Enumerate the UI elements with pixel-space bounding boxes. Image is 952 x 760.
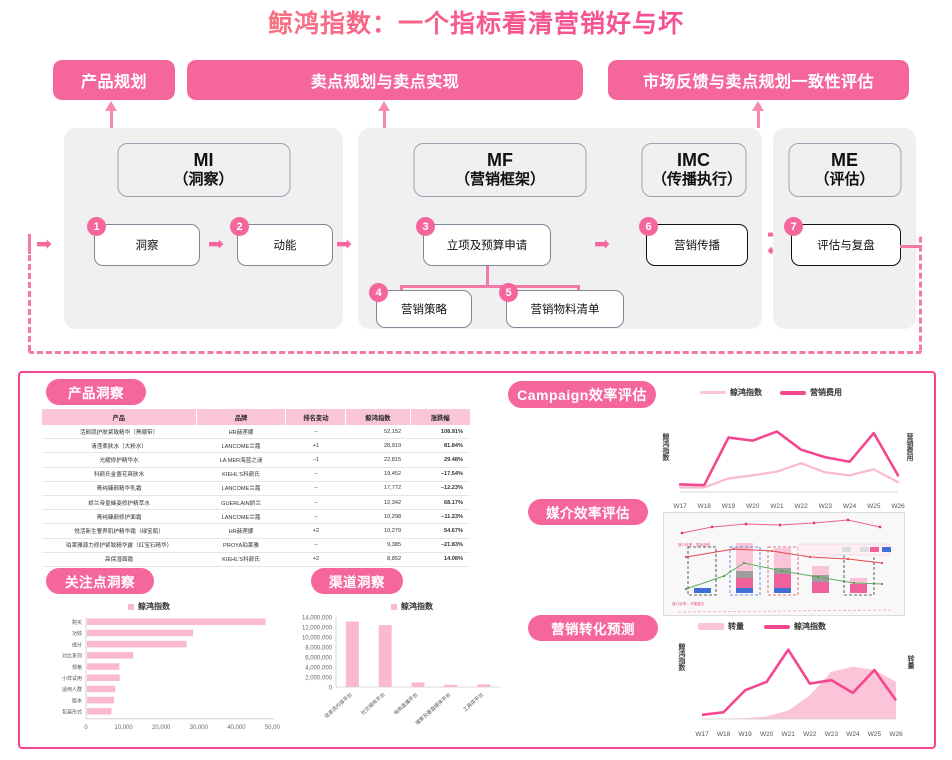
media-stacked-bar-segment — [812, 566, 829, 575]
cell-product: 珀莱雅源力修护紧致精华露（红宝石精华） — [42, 538, 196, 552]
forecast-y-right-title: 转量 — [905, 655, 915, 669]
focus-bar — [87, 663, 119, 670]
node-label: 洞察 — [136, 237, 159, 253]
campaign-x-tick: W24 — [839, 503, 861, 510]
cell-product: 高保湿面霜 — [42, 552, 196, 566]
cell-change: 68.17% — [410, 495, 470, 509]
legend-line-icon — [780, 391, 806, 395]
tree-connector-horizontal — [400, 285, 580, 288]
legend-label: 鲸鸿指数 — [138, 601, 170, 612]
banner-arrow-up-icon — [105, 101, 117, 111]
step-badge-4: 4 — [369, 283, 388, 302]
cell-rank-change: +2 — [286, 524, 346, 538]
stage-me-header: ME （评估） — [788, 143, 901, 197]
forecast-x-tick: W26 — [886, 731, 906, 738]
pill-product-insight[interactable]: 产品洞察 — [46, 379, 146, 405]
cell-brand: HR赫莲娜 — [196, 524, 286, 538]
legend-swatch-icon — [391, 604, 397, 610]
cell-index: 9,385 — [346, 538, 410, 552]
legend-item-jinghong-index: 鲸鸿指数 — [700, 387, 762, 398]
forecast-x-tick: W24 — [843, 731, 863, 738]
channel-x-tick: 信息流内容平台 — [323, 691, 354, 720]
pill-campaign-eval[interactable]: Campaign效率评估 — [508, 381, 656, 408]
focus-bar — [87, 641, 187, 648]
legend-item-jinghong-index: 鲸鸿指数 — [764, 621, 826, 632]
focus-bar — [87, 652, 133, 659]
media-stacked-bar-segment — [736, 588, 753, 593]
cell-product: 科颜氏金盏花爽肤水 — [42, 467, 196, 481]
table-row[interactable]: 活颜肌护肤紧致精华（黑绷带）HR赫莲娜–52,152108.91% — [42, 425, 470, 439]
focus-x-tick: 10,000 — [114, 725, 133, 731]
forecast-x-tick: W22 — [800, 731, 820, 738]
arrow-entry-icon: ➡ — [36, 235, 52, 254]
node-evaluation-review[interactable]: 评估与复盘 — [791, 224, 901, 266]
cell-brand: HR赫莲娜 — [196, 425, 286, 439]
focus-x-tick: 20,000 — [152, 725, 171, 731]
phase-banner-selling-point[interactable]: 卖点规划与卖点实现 — [187, 60, 583, 100]
focus-category-label: 小样试用 — [62, 675, 82, 682]
channel-y-tick: 14,000,000 — [302, 616, 333, 622]
cell-brand: LANCOME兰蔻 — [196, 481, 286, 495]
legend-label: 转量 — [728, 621, 744, 632]
cell-rank-change: +2 — [286, 552, 346, 566]
phase-banner-label: 产品规划 — [81, 68, 147, 92]
product-insight-table: 产品 品牌 排名变动 鲸鸿指数 涨跌幅 活颜肌护肤紧致精华（黑绷带）HR赫莲娜–… — [42, 409, 470, 567]
dashboard-panel: 产品洞察 产品 品牌 排名变动 鲸鸿指数 涨跌幅 活颜肌护肤紧致精华（黑绷带）H… — [18, 371, 936, 749]
focus-x-tick: 30,000 — [190, 725, 209, 731]
cell-product: 悦活新生奢养肌护精华霜（绿宝瓶） — [42, 524, 196, 538]
focus-x-tick: 0 — [84, 725, 88, 731]
cell-index: 19,452 — [346, 467, 410, 481]
cell-index: 28,919 — [346, 439, 410, 453]
cell-index: 8,852 — [346, 552, 410, 566]
campaign-x-tick: W20 — [742, 503, 764, 510]
channel-bar — [346, 622, 359, 688]
stage-mf-name: （营销框架） — [425, 171, 576, 189]
svg-text:媒介效率：节奏建议: 媒介效率：节奏建议 — [672, 601, 705, 606]
stage-me-code: ME — [799, 150, 890, 171]
poster-root: 鲸鸿指数：一个指标看清营销好与坏 产品规划 卖点规划与卖点实现 市场反馈与卖点规… — [0, 0, 952, 760]
legend-label: 鲸鸿指数 — [794, 621, 826, 632]
forecast-area — [702, 667, 896, 719]
cell-rank-change: – — [286, 425, 346, 439]
banner-arrow-up-icon — [378, 101, 390, 111]
arrow-mi-to-mf-icon: ➡ — [336, 235, 352, 254]
forecast-x-tick: W23 — [821, 731, 841, 738]
media-stacked-bar-segment — [812, 582, 829, 593]
phase-banner-label: 市场反馈与卖点规划一致性评估 — [643, 68, 874, 92]
banner-arrow-up-icon — [752, 101, 764, 111]
banner-stem — [757, 110, 760, 128]
channel-x-tick: 社交媒体平台 — [360, 691, 387, 716]
arrow-right-icon: ➡ — [208, 235, 224, 254]
forecast-chart-legend: 转量 鲸鸿指数 — [698, 621, 826, 632]
focus-bar — [87, 708, 111, 715]
cell-brand: LANCOME兰蔻 — [196, 439, 286, 453]
cell-change: –21.83% — [410, 538, 470, 552]
campaign-x-tick: W21 — [766, 503, 788, 510]
phase-banner-market-feedback[interactable]: 市场反馈与卖点规划一致性评估 — [608, 60, 909, 100]
node-marketing-strategy[interactable]: 营销策略 — [376, 290, 472, 328]
stage-me-name: （评估） — [799, 171, 890, 189]
feedback-loop-stub — [28, 234, 31, 254]
loop-return-line — [900, 245, 922, 248]
focus-bar — [87, 630, 193, 637]
campaign-series-line — [680, 432, 898, 486]
stage-mi-code: MI — [128, 150, 279, 171]
cell-index: 52,152 — [346, 425, 410, 439]
focus-bar — [87, 675, 120, 682]
forecast-x-tick: W25 — [864, 731, 884, 738]
pill-channel-insight[interactable]: 渠道洞察 — [311, 568, 403, 594]
campaign-x-tick: W25 — [863, 503, 885, 510]
channel-y-tick: 4,000,000 — [305, 666, 332, 672]
arrow-mf-to-imc-icon: ➡ — [594, 235, 610, 254]
channel-x-tick: 搜索及垂直媒体平台 — [414, 691, 452, 726]
campaign-x-tick: W22 — [790, 503, 812, 510]
forecast-x-tick: W20 — [757, 731, 777, 738]
focus-category-label: 包装形式 — [62, 709, 82, 716]
col-rank-change: 排名变动 — [286, 409, 346, 425]
stage-mf-header: MF （营销框架） — [414, 143, 587, 197]
media-stacked-bar-segment — [736, 578, 753, 588]
channel-insight-bar-chart: 02,000,0004,000,0006,000,0008,000,00010,… — [278, 611, 508, 743]
cell-product: 活颜肌护肤紧致精华（黑绷带） — [42, 425, 196, 439]
node-material-list[interactable]: 营销物料清单 — [506, 290, 624, 328]
pill-conversion-forecast[interactable]: 营销转化预测 — [528, 615, 658, 641]
legend-item-marketing-cost: 营销费用 — [780, 387, 842, 398]
table-row[interactable]: 菁纯臻颜精华乳霜LANCOME兰蔻–17,772–12.23% — [42, 481, 470, 495]
process-flow-diagram: MI （洞察） 洞察 1 ➡ 动能 2 ➡ MF （营销框架） — [28, 128, 928, 343]
channel-bar — [444, 685, 457, 687]
node-project-budget[interactable]: 立项及预算申请 — [423, 224, 551, 266]
cell-change: 29.48% — [410, 453, 470, 467]
cell-rank-change: – — [286, 510, 346, 524]
step-badge-6: 6 — [639, 217, 658, 236]
table-row[interactable]: 科颜氏金盏花爽肤水KIEHL'S科颜氏–19,452–17.54% — [42, 467, 470, 481]
node-label: 评估与复盘 — [817, 237, 875, 253]
stage-imc: IMC （传播执行） 营销传播 6 — [625, 128, 762, 329]
table-row[interactable]: 娇兰帝皇蜂姿修护精萃水GUERLAIN娇兰–12,34268.17% — [42, 495, 470, 509]
node-marketing-comms[interactable]: 营销传播 — [646, 224, 748, 266]
node-insight[interactable]: 洞察 — [94, 224, 200, 266]
stage-mi-name: （洞察） — [128, 171, 279, 189]
media-eval-dashboard-thumbnail[interactable]: 媒介效率：整体趋势媒介效率：节奏建议 — [663, 512, 905, 616]
legend-label: 营销费用 — [810, 387, 842, 398]
phase-banner-product-planning[interactable]: 产品规划 — [53, 60, 175, 100]
cell-rank-change: – — [286, 495, 346, 509]
media-stacked-bar-segment — [774, 548, 791, 568]
step-badge-2: 2 — [230, 217, 249, 236]
cell-change: –11.23% — [410, 510, 470, 524]
focus-bar — [87, 686, 115, 693]
media-stacked-bar-segment — [736, 571, 753, 578]
cell-product: 菁纯臻颜修护面霜 — [42, 510, 196, 524]
focus-insight-bar-chart: 购买功效成分对比系列规格小样试用适用人群版本包装形式010,00020,0003… — [30, 613, 280, 738]
campaign-x-tick: W26 — [887, 503, 909, 510]
banner-stem — [110, 110, 113, 128]
focus-category-label: 版本 — [72, 697, 82, 704]
channel-y-tick: 10,000,000 — [302, 636, 333, 642]
col-index: 鲸鸿指数 — [346, 409, 410, 425]
table-row[interactable]: 珀莱雅源力修护紧致精华露（红宝石精华）PROYA珀莱雅–9,385–21.83% — [42, 538, 470, 552]
svg-text:媒介效率：整体趋势: 媒介效率：整体趋势 — [678, 542, 711, 547]
cell-change: 54.67% — [410, 524, 470, 538]
channel-y-tick: 0 — [329, 686, 333, 692]
cell-rank-change: +1 — [286, 439, 346, 453]
cell-change: 81.84% — [410, 439, 470, 453]
focus-bar — [87, 697, 114, 704]
forecast-x-tick: W17 — [692, 731, 712, 738]
campaign-x-tick: W19 — [717, 503, 739, 510]
node-label: 动能 — [274, 237, 297, 253]
table-row[interactable]: 悦活新生奢养肌护精华霜（绿宝瓶）HR赫莲娜+210,27954.67% — [42, 524, 470, 538]
focus-x-tick: 40,000 — [227, 725, 246, 731]
cell-index: 22,815 — [346, 453, 410, 467]
table-header-row: 产品 品牌 排名变动 鲸鸿指数 涨跌幅 — [42, 409, 470, 425]
cell-product: 菁纯臻颜精华乳霜 — [42, 481, 196, 495]
cell-rank-change: –1 — [286, 453, 346, 467]
forecast-x-axis-labels: W17W18W19W20W21W22W23W24W25W26 — [692, 731, 904, 743]
campaign-eval-line-chart — [672, 418, 904, 503]
cell-product: 光耀修护精华水 — [42, 453, 196, 467]
stage-mf-code: MF — [425, 150, 576, 171]
focus-category-label: 功效 — [72, 630, 82, 637]
legend-label: 鲸鸿指数 — [730, 387, 762, 398]
cell-brand: LANCOME兰蔻 — [196, 510, 286, 524]
focus-bar — [87, 619, 266, 626]
cell-index: 10,279 — [346, 524, 410, 538]
channel-x-tick: 工具类平台 — [462, 691, 485, 713]
cell-index: 10,298 — [346, 510, 410, 524]
media-stacked-bar-segment — [774, 588, 791, 593]
channel-y-tick: 8,000,000 — [305, 646, 332, 652]
stage-imc-name: （传播执行） — [652, 171, 735, 189]
cell-index: 12,342 — [346, 495, 410, 509]
pill-media-eval[interactable]: 媒介效率评估 — [528, 499, 648, 525]
page-title: 鲸鸿指数：一个指标看清营销好与坏 — [0, 4, 952, 40]
channel-y-tick: 12,000,000 — [302, 626, 333, 632]
cell-brand: KIEHL'S科颜氏 — [196, 552, 286, 566]
step-badge-3: 3 — [416, 217, 435, 236]
cell-brand: KIEHL'S科颜氏 — [196, 467, 286, 481]
table-row[interactable]: 清滢柔肤水（大粉水）LANCOME兰蔻+128,91981.84% — [42, 439, 470, 453]
channel-x-tick: 电商直播平台 — [392, 691, 419, 716]
conversion-forecast-area-chart — [692, 637, 904, 732]
col-brand: 品牌 — [196, 409, 286, 425]
cell-rank-change: – — [286, 481, 346, 495]
campaign-x-tick: W23 — [814, 503, 836, 510]
legend-item-index: 鲸鸿指数 — [128, 601, 170, 612]
legend-line-icon — [764, 625, 790, 629]
node-momentum[interactable]: 动能 — [237, 224, 333, 266]
step-badge-7: 7 — [784, 217, 803, 236]
campaign-y-right-title: 营销费用 — [904, 433, 914, 461]
campaign-x-tick: W18 — [693, 503, 715, 510]
step-badge-1: 1 — [87, 217, 106, 236]
cell-change: 108.91% — [410, 425, 470, 439]
legend-line-icon — [700, 391, 726, 394]
focus-category-label: 成分 — [72, 641, 82, 648]
node-label: 营销策略 — [401, 301, 447, 317]
cell-change: –17.54% — [410, 467, 470, 481]
stage-mi: MI （洞察） 洞察 1 ➡ 动能 2 — [64, 128, 343, 329]
forecast-x-tick: W19 — [735, 731, 755, 738]
stage-mi-header: MI （洞察） — [117, 143, 290, 197]
media-stacked-bar-segment — [774, 574, 791, 588]
focus-chart-legend: 鲸鸿指数 — [128, 601, 170, 612]
focus-category-label: 购买 — [72, 619, 82, 626]
legend-swatch-icon — [128, 604, 134, 610]
pill-focus-insight[interactable]: 关注点洞察 — [46, 568, 154, 594]
table-row[interactable]: 菁纯臻颜修护面霜LANCOME兰蔻–10,298–11.23% — [42, 510, 470, 524]
media-stacked-bar-segment — [694, 588, 711, 593]
stage-mf: MF （营销框架） 立项及预算申请 3 营销策略 4 营销物料清单 — [358, 128, 642, 329]
cell-change: 14.08% — [410, 552, 470, 566]
media-stacked-bar-segment — [850, 584, 867, 593]
campaign-x-tick: W17 — [669, 503, 691, 510]
col-product: 产品 — [42, 409, 196, 425]
focus-category-label: 对比系列 — [62, 653, 82, 660]
cell-brand: LA MER海蓝之谜 — [196, 453, 286, 467]
stage-me: ME （评估） 评估与复盘 7 — [773, 128, 916, 329]
cell-rank-change: – — [286, 538, 346, 552]
node-label: 营销物料清单 — [531, 301, 600, 317]
cell-index: 17,772 — [346, 481, 410, 495]
channel-bar — [412, 683, 425, 688]
stage-imc-header: IMC （传播执行） — [641, 143, 746, 197]
cell-product: 清滢柔肤水（大粉水） — [42, 439, 196, 453]
focus-category-label: 规格 — [72, 664, 82, 671]
tree-connector-vertical — [486, 266, 489, 287]
cell-rank-change: – — [286, 467, 346, 481]
legend-area-icon — [698, 623, 724, 630]
campaign-y-left-title: 鲸鸿指数 — [660, 433, 670, 461]
banner-stem — [383, 110, 386, 128]
table-row[interactable]: 高保湿面霜KIEHL'S科颜氏+28,85214.08% — [42, 552, 470, 566]
phase-banner-label: 卖点规划与卖点实现 — [311, 68, 460, 92]
forecast-x-tick: W21 — [778, 731, 798, 738]
col-change: 涨跌幅 — [410, 409, 470, 425]
table-row[interactable]: 光耀修护精华水LA MER海蓝之谜–122,81529.48% — [42, 453, 470, 467]
channel-bar — [379, 625, 392, 687]
focus-category-label: 适用人群 — [62, 686, 82, 693]
forecast-x-tick: W18 — [714, 731, 734, 738]
node-label: 立项及预算申请 — [447, 237, 528, 253]
node-label: 营销传播 — [674, 237, 720, 253]
channel-bar — [477, 684, 490, 687]
cell-change: –12.23% — [410, 481, 470, 495]
legend-item-volume: 转量 — [698, 621, 744, 632]
channel-y-tick: 6,000,000 — [305, 656, 332, 662]
cell-brand: GUERLAIN娇兰 — [196, 495, 286, 509]
cell-brand: PROYA珀莱雅 — [196, 538, 286, 552]
cell-product: 娇兰帝皇蜂姿修护精萃水 — [42, 495, 196, 509]
campaign-chart-legend: 鲸鸿指数 营销费用 — [700, 387, 842, 398]
stage-imc-code: IMC — [652, 150, 735, 171]
step-badge-5: 5 — [499, 283, 518, 302]
channel-y-tick: 2,000,000 — [305, 676, 332, 682]
forecast-y-left-title: 鲸鸿指数 — [676, 643, 686, 671]
